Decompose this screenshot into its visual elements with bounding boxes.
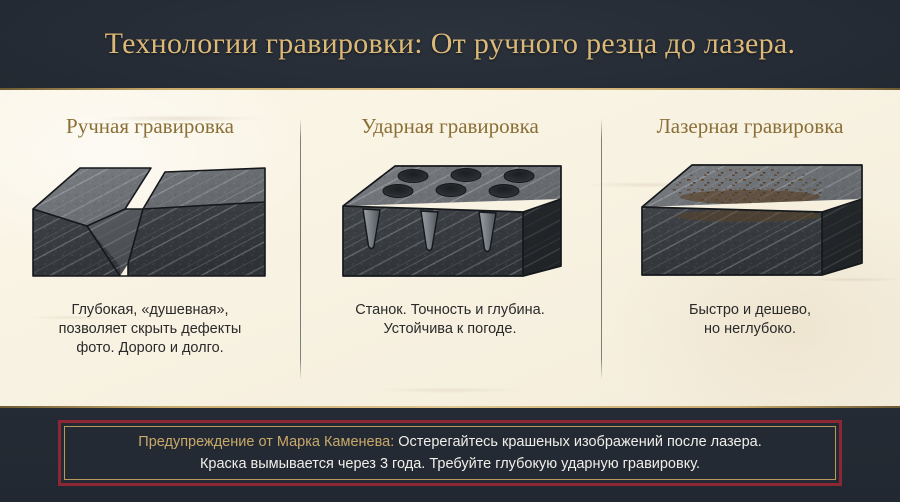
caption-laser: Быстро и дешево, но неглубоко. — [614, 301, 886, 339]
caption-hand: Глубокая, «душевная», позволяет скрыть д… — [14, 301, 286, 358]
column-title-hand: Ручная гравировка — [66, 114, 234, 139]
pit-group-back — [398, 169, 534, 183]
column-divider-1 — [300, 118, 301, 380]
illustration-granite-block-surface-speckle — [620, 151, 880, 287]
column-hand-engraving: Ручная гравировка — [0, 90, 300, 406]
conical-pits-svg — [333, 154, 568, 284]
warning-author-label: Предупреждение от Марка Каменева: — [138, 434, 394, 450]
illustration-granite-block-v-groove — [20, 151, 280, 287]
header-band: Технологии гравировки: От ручного резца … — [0, 0, 900, 88]
column-laser-engraving: Лазерная гравировка — [600, 90, 900, 406]
column-impact-engraving: Ударная гравировка — [300, 90, 600, 406]
content-paper: Ручная гравировка — [0, 90, 900, 406]
caption-impact: Станок. Точность и глубина. Устойчива к … — [314, 301, 586, 339]
comparison-columns: Ручная гравировка — [0, 90, 900, 406]
surface-speckle-svg — [630, 157, 870, 282]
page-title: Технологии гравировки: От ручного резца … — [105, 27, 796, 61]
column-divider-2 — [601, 118, 602, 380]
warning-box: Предупреждение от Марка Каменева: Остере… — [58, 420, 842, 486]
infographic-root: Технологии гравировки: От ручного резца … — [0, 0, 900, 502]
warning-box-inner: Предупреждение от Марка Каменева: Остере… — [64, 426, 836, 480]
laser-burn-marking — [670, 168, 826, 206]
column-title-laser: Лазерная гравировка — [657, 114, 844, 139]
warning-line-1: Предупреждение от Марка Каменева: Остере… — [138, 431, 761, 453]
illustration-granite-block-conical-pits — [320, 151, 580, 287]
v-groove-svg — [25, 154, 275, 284]
column-title-impact: Ударная гравировка — [361, 114, 539, 139]
warning-line-2: Краска вымывается через 3 года. Требуйте… — [200, 453, 700, 475]
warning-line-1-text: Остерегайтесь крашеных изображений после… — [394, 434, 761, 450]
pit-group-front — [383, 184, 519, 198]
